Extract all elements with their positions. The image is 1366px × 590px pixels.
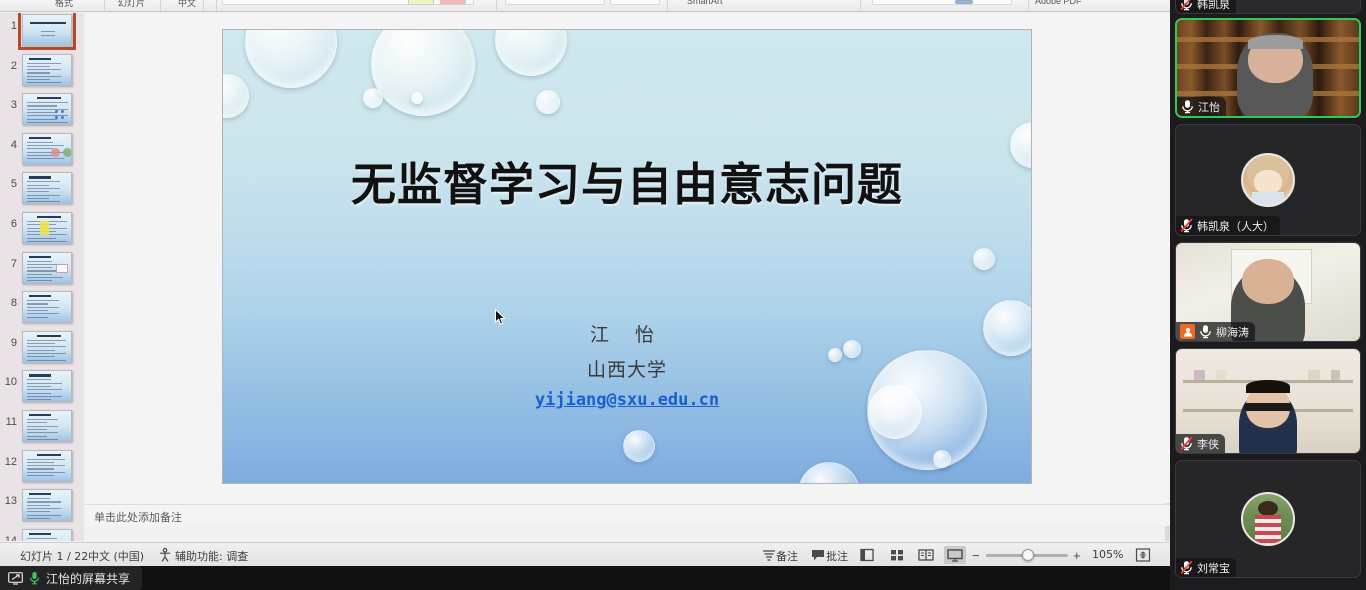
participant-name-bar: 韩凯泉（人大） — [1176, 216, 1280, 235]
ribbon-bar[interactable]: 格式 幻灯片 中文 SmartArt Adobe PDF — [0, 0, 1170, 12]
microphone-muted-icon — [1180, 0, 1193, 11]
thumbnail-slide-9[interactable] — [22, 331, 72, 363]
participant-name-bar: 韩凯泉 — [1176, 0, 1236, 13]
bubble-decoration — [495, 29, 567, 76]
thumbnail-row[interactable]: 11 — [0, 407, 84, 447]
thumbnail-row[interactable]: 4 — [0, 130, 84, 170]
thumbnail-row[interactable]: 6 — [0, 209, 84, 249]
participant-tile-1[interactable]: 韩凯泉 — [1175, 0, 1361, 14]
participant-tile-4[interactable]: 柳海涛 — [1175, 242, 1361, 342]
thumbnail-row[interactable]: 7 — [0, 249, 84, 289]
ribbon-group-geshi[interactable]: 格式 — [55, 0, 73, 9]
thumbnail-number: 7 — [3, 258, 17, 270]
screen-share-indicator[interactable]: 江怡的屏幕共享 — [0, 566, 142, 590]
zoom-out-button[interactable]: − — [972, 548, 980, 563]
ribbon-group-chinese[interactable]: 中文 — [178, 0, 196, 9]
zoom-slider-knob[interactable] — [1022, 549, 1034, 561]
screen-share-icon — [8, 572, 23, 585]
thumbnail-slide-12[interactable] — [22, 450, 72, 482]
accessibility-icon[interactable] — [157, 547, 173, 563]
participant-tile-5[interactable]: 李侠 — [1175, 348, 1361, 454]
participant-tile-2[interactable]: 江怡 — [1175, 18, 1361, 118]
thumbnail-row[interactable]: 5 — [0, 169, 84, 209]
avatar — [1241, 153, 1295, 207]
slide-title[interactable]: 无监督学习与自由意志问题 — [223, 148, 1031, 213]
participant-tile-6[interactable]: 刘常宝 — [1175, 460, 1361, 578]
ribbon-group-adobe-pdf[interactable]: Adobe PDF — [1035, 0, 1082, 6]
bubble-decoration — [363, 88, 383, 108]
participant-name: 韩凯泉（人大） — [1197, 218, 1274, 234]
bubble-decoration — [411, 92, 423, 104]
comments-icon[interactable] — [810, 547, 826, 563]
view-slide-sorter-button[interactable] — [886, 546, 908, 564]
notes-button-label[interactable]: 备注 — [776, 548, 798, 564]
zoom-in-button[interactable]: + — [1073, 548, 1081, 563]
thumbnail-number: 6 — [3, 218, 17, 230]
thumbnail-number: 5 — [3, 178, 17, 190]
status-bar: 幻灯片 1 / 22 中文 (中国) 辅助功能: 调查 备注 批注 − — [0, 542, 1170, 566]
zoom-level-label[interactable]: 105% — [1092, 548, 1123, 561]
language-indicator[interactable]: 中文 (中国) — [88, 548, 144, 564]
participant-name: 柳海涛 — [1216, 324, 1249, 340]
microphone-icon — [1181, 99, 1194, 114]
comments-button-label[interactable]: 批注 — [826, 548, 848, 564]
thumbnail-slide-14[interactable] — [22, 529, 72, 541]
microphone-icon — [1199, 324, 1212, 339]
ribbon-group-slide[interactable]: 幻灯片 — [118, 0, 145, 9]
participant-name-bar: 李侠 — [1176, 434, 1225, 453]
slide-organization[interactable]: 山西大学 — [223, 355, 1031, 382]
thumbnail-number: 1 — [3, 20, 17, 32]
bubble-decoration — [973, 248, 995, 270]
participant-name-bar: 柳海涛 — [1176, 322, 1255, 341]
notes-icon[interactable] — [761, 547, 777, 563]
thumbnail-number: 12 — [3, 456, 17, 468]
slide-thumbnail-panel[interactable]: 1234567891011121314 — [0, 13, 84, 541]
microphone-icon — [29, 571, 40, 585]
thumbnail-number: 3 — [3, 99, 17, 111]
participant-name: 韩凯泉 — [1197, 0, 1230, 12]
thumbnail-slide-4[interactable] — [22, 133, 72, 165]
zoom-taskbar: 江怡的屏幕共享 — [0, 566, 1170, 590]
participant-name-bar: 刘常宝 — [1176, 558, 1236, 577]
thumbnail-number: 10 — [3, 376, 17, 388]
avatar — [1241, 492, 1295, 546]
thumbnail-number: 8 — [3, 297, 17, 309]
microphone-muted-icon — [1180, 560, 1193, 575]
current-slide[interactable]: 无监督学习与自由意志问题 江 怡 山西大学 yijiang@sxu.edu.cn — [222, 29, 1032, 484]
bubble-decoration — [798, 462, 860, 484]
thumbnail-row[interactable]: 3 — [0, 90, 84, 130]
thumbnail-slide-2[interactable] — [22, 54, 72, 86]
host-badge — [1180, 324, 1195, 339]
thumbnail-number: 9 — [3, 337, 17, 349]
thumbnail-slide-5[interactable] — [22, 172, 72, 204]
zoom-participant-sidebar[interactable]: 韩凯泉江怡韩凯泉（人大）柳海涛李侠刘常宝 — [1170, 0, 1366, 590]
thumbnail-row[interactable]: 10 — [0, 367, 84, 407]
view-reading-button[interactable] — [915, 546, 937, 564]
thumbnail-slide-13[interactable] — [22, 489, 72, 521]
slide-email-link[interactable]: yijiang@sxu.edu.cn — [223, 390, 1031, 410]
thumbnail-row[interactable]: 2 — [0, 51, 84, 91]
participant-tile-3[interactable]: 韩凯泉（人大） — [1175, 124, 1361, 236]
view-presentation-button[interactable] — [944, 546, 966, 564]
slide-author[interactable]: 江 怡 — [223, 320, 1031, 347]
thumbnail-row[interactable]: 8 — [0, 288, 84, 328]
thumbnail-slide-6[interactable] — [22, 212, 72, 244]
thumbnail-slide-3[interactable] — [22, 93, 72, 125]
thumbnail-number: 2 — [3, 60, 17, 72]
accessibility-label[interactable]: 辅助功能: 调查 — [175, 548, 248, 564]
thumbnail-row[interactable]: 14 — [0, 526, 84, 541]
thumbnail-number: 11 — [3, 416, 17, 428]
thumbnail-number: 4 — [3, 139, 17, 151]
microphone-muted-icon — [1180, 436, 1193, 451]
thumbnail-row[interactable]: 13 — [0, 486, 84, 526]
bubble-decoration — [536, 90, 560, 114]
participant-name: 李侠 — [1197, 436, 1219, 452]
notes-pane[interactable]: 单击此处添加备注 — [85, 504, 1170, 526]
participant-name-bar: 江怡 — [1177, 97, 1226, 116]
thumbnail-slide-8[interactable] — [22, 291, 72, 323]
powerpoint-window: 格式 幻灯片 中文 SmartArt Adobe PDF 12345678910… — [0, 0, 1170, 566]
slide-counter[interactable]: 幻灯片 1 / 22 — [20, 548, 88, 564]
fit-to-window-button[interactable] — [1132, 546, 1154, 564]
thumbnail-slide-10[interactable] — [22, 370, 72, 402]
bubble-decoration — [623, 430, 655, 462]
bubble-decoration — [245, 29, 337, 88]
thumbnail-number: 13 — [3, 495, 17, 507]
thumbnail-row[interactable]: 9 — [0, 328, 84, 368]
view-normal-button[interactable] — [856, 546, 878, 564]
mouse-cursor — [495, 309, 506, 326]
thumbnail-slide-1[interactable] — [22, 14, 72, 46]
slide-editing-area[interactable]: 无监督学习与自由意志问题 江 怡 山西大学 yijiang@sxu.edu.cn — [85, 13, 1170, 503]
participant-name: 刘常宝 — [1197, 560, 1230, 576]
ribbon-group-smartart[interactable]: SmartArt — [687, 0, 723, 6]
notes-placeholder: 单击此处添加备注 — [94, 509, 182, 525]
thumbnail-slide-11[interactable] — [22, 410, 72, 442]
bubble-decoration — [222, 74, 249, 118]
screen-share-label: 江怡的屏幕共享 — [46, 570, 130, 587]
participant-name: 江怡 — [1198, 99, 1220, 115]
microphone-muted-icon — [1180, 218, 1193, 233]
bubble-decoration — [371, 29, 475, 116]
thumbnail-number: 14 — [3, 535, 17, 541]
thumbnail-slide-7[interactable] — [22, 252, 72, 284]
thumbnail-row[interactable]: 1 — [0, 13, 84, 51]
thumbnail-row[interactable]: 12 — [0, 447, 84, 487]
